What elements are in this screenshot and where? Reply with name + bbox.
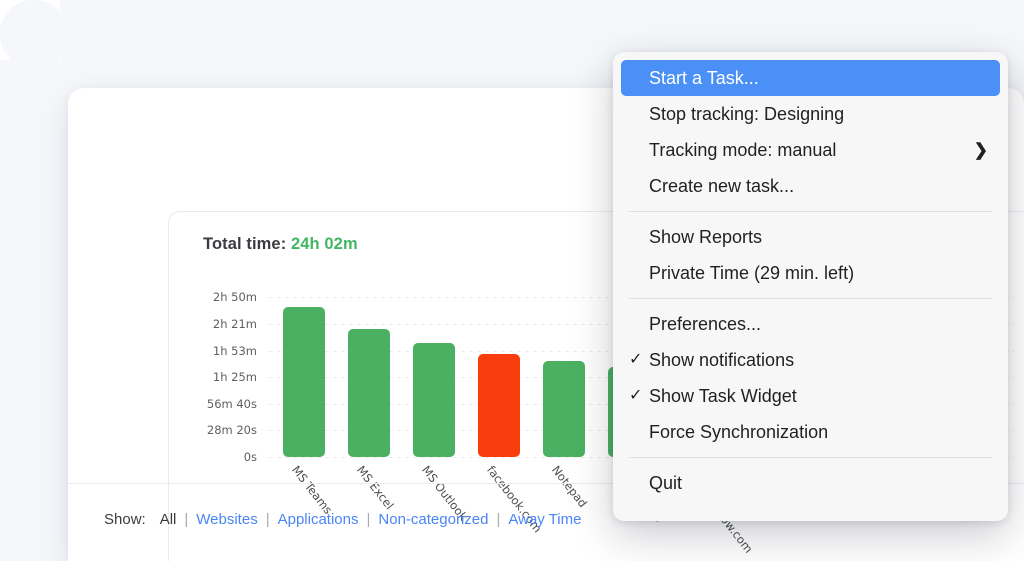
menu-item-label: Quit (649, 473, 682, 494)
y-axis-tick-label: 2h 50m (213, 290, 257, 304)
show-filter-option-non-categorized[interactable]: Non-categorized (378, 511, 488, 528)
x-axis-tick-label: MS Excel (354, 463, 397, 512)
show-filter-options: All|Websites|Applications|Non-categorize… (160, 511, 582, 528)
menu-item-label: Private Time (29 min. left) (649, 263, 854, 284)
show-filter-option-websites[interactable]: Websites (196, 511, 257, 528)
show-filter-separator: | (176, 511, 196, 528)
menu-divider (629, 457, 992, 458)
menu-item-force-synchronization[interactable]: Force Synchronization (613, 414, 1008, 450)
menu-item-label: Show Reports (649, 227, 762, 248)
menu-item-label: Force Synchronization (649, 422, 828, 443)
context-menu[interactable]: Start a Task...Stop tracking: DesigningT… (613, 52, 1008, 521)
checkmark-icon: ✓ (629, 388, 642, 404)
menu-item-show-task-widget[interactable]: ✓Show Task Widget (613, 378, 1008, 414)
y-axis-tick-label: 1h 25m (213, 370, 257, 384)
chart-bar[interactable] (413, 343, 455, 458)
chevron-right-icon: ❯ (974, 142, 988, 159)
menu-divider (629, 211, 992, 212)
chart-bar[interactable] (283, 307, 325, 457)
show-filter-separator: | (258, 511, 278, 528)
x-axis-tick-label: Notepad (549, 463, 590, 510)
menu-item-label: Create new task... (649, 176, 794, 197)
y-axis-tick-label: 2h 21m (213, 317, 257, 331)
show-filter-option-all[interactable]: All (160, 511, 177, 528)
y-axis-tick-label: 28m 20s (207, 423, 257, 437)
y-axis-tick-label: 0s (244, 450, 257, 464)
total-time-label: Total time: (203, 235, 286, 253)
menu-item-label: Start a Task... (649, 68, 759, 89)
menu-item-label: Stop tracking: Designing (649, 104, 844, 125)
menu-item-label: Show Task Widget (649, 386, 797, 407)
menu-item-start-a-task[interactable]: Start a Task... (621, 60, 1000, 96)
menu-item-private-time-29-min-left[interactable]: Private Time (29 min. left) (613, 255, 1008, 291)
menu-item-create-new-task[interactable]: Create new task... (613, 168, 1008, 204)
y-axis-tick-label: 1h 53m (213, 344, 257, 358)
x-axis-tick-label: MS Teams (289, 463, 335, 517)
menu-item-label: Show notifications (649, 350, 794, 371)
total-time-heading: Total time: 24h 02m (203, 235, 358, 254)
menu-item-label: Preferences... (649, 314, 761, 335)
menu-item-label: Tracking mode: manual (649, 140, 836, 161)
menu-item-preferences[interactable]: Preferences... (613, 306, 1008, 342)
show-filter-separator: | (359, 511, 379, 528)
menu-item-show-notifications[interactable]: ✓Show notifications (613, 342, 1008, 378)
menu-item-quit[interactable]: Quit (613, 465, 1008, 501)
show-filter-separator: | (488, 511, 508, 528)
show-filter-option-applications[interactable]: Applications (278, 511, 359, 528)
checkmark-icon: ✓ (629, 352, 642, 368)
menu-item-show-reports[interactable]: Show Reports (613, 219, 1008, 255)
chart-bar[interactable] (543, 361, 585, 457)
show-filter-bar: Show: All|Websites|Applications|Non-cate… (104, 511, 581, 528)
menu-item-stop-tracking-designing[interactable]: Stop tracking: Designing (613, 96, 1008, 132)
show-filter-option-away-time[interactable]: Away Time (508, 511, 581, 528)
y-axis-tick-label: 56m 40s (207, 397, 257, 411)
chart-bar[interactable] (348, 329, 390, 457)
menu-divider (629, 298, 992, 299)
menu-item-tracking-mode-manual[interactable]: Tracking mode: manual❯ (613, 132, 1008, 168)
total-time-value: 24h 02m (291, 235, 358, 253)
chart-bar[interactable] (478, 354, 520, 457)
show-filter-label: Show: (104, 511, 146, 528)
